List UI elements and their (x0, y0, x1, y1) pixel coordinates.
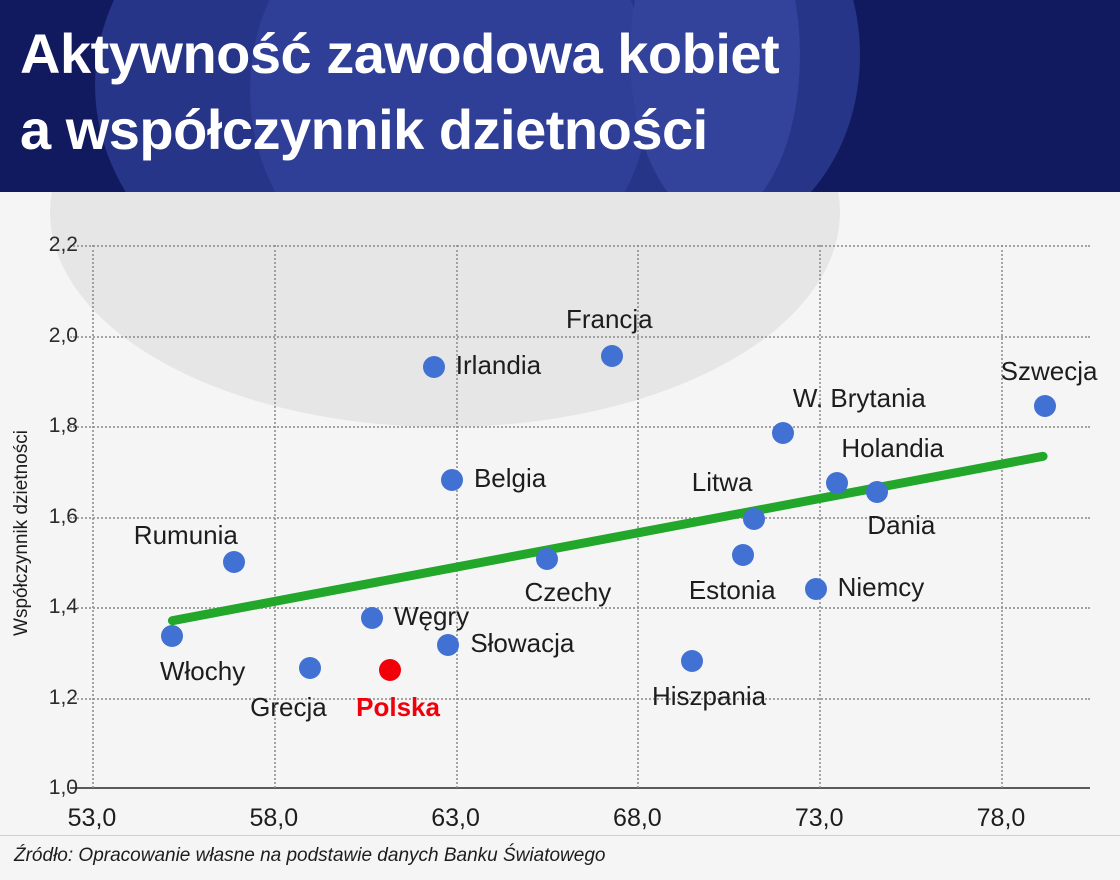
y-axis-tick-label: 1,0 (0, 776, 78, 800)
header-banner: Aktywność zawodowa kobiet a współczynnik… (0, 0, 1120, 192)
data-point-belgia[interactable] (441, 469, 463, 491)
x-axis-tick-label: 63,0 (401, 804, 511, 833)
data-point-label: Francja (566, 304, 653, 335)
gridline-horizontal (70, 698, 1090, 700)
data-point-label: Holandia (841, 433, 944, 464)
data-point-label: Niemcy (838, 572, 925, 603)
data-point-label: Szwecja (1001, 356, 1098, 387)
infographic-root: Aktywność zawodowa kobiet a współczynnik… (0, 0, 1120, 880)
gridline-horizontal (70, 426, 1090, 428)
data-point-label: Węgry (394, 601, 469, 632)
data-point-polska[interactable] (379, 659, 401, 681)
data-point-label: Polska (356, 692, 440, 723)
data-point-label: Słowacja (470, 628, 574, 659)
x-axis-tick-label: 73,0 (764, 804, 874, 833)
data-point-grecja[interactable] (299, 657, 321, 679)
data-point-label: Rumunia (134, 520, 238, 551)
x-axis-tick-label: 53,0 (37, 804, 147, 833)
x-axis-tick-label: 68,0 (582, 804, 692, 833)
gridline-vertical (92, 245, 94, 788)
data-point-w-brytania[interactable] (772, 422, 794, 444)
data-point-litwa[interactable] (743, 508, 765, 530)
footer-divider (0, 835, 1120, 836)
chart-area: 1,01,21,41,61,82,02,253,058,063,068,073,… (0, 192, 1120, 880)
page-title: Aktywność zawodowa kobiet a współczynnik… (20, 16, 1080, 168)
data-point-label: Grecja (250, 692, 327, 723)
data-point-w-ochy[interactable] (161, 625, 183, 647)
data-point-label: Dania (867, 510, 935, 541)
data-point-label: Litwa (692, 467, 753, 498)
gridline-horizontal (70, 517, 1090, 519)
gridline-vertical (456, 245, 458, 788)
data-point-label: Belgia (474, 463, 546, 494)
y-axis-title: Współczynnik dzietności (11, 323, 33, 743)
data-point-czechy[interactable] (536, 548, 558, 570)
data-point-holandia[interactable] (826, 472, 848, 494)
x-axis-tick-label: 78,0 (946, 804, 1056, 833)
x-axis-line (70, 787, 1090, 789)
source-note: Źródło: Opracowanie własne na podstawie … (14, 845, 605, 867)
data-point-label: W. Brytania (793, 383, 926, 414)
data-point-hiszpania[interactable] (681, 650, 703, 672)
data-point-label: Czechy (525, 577, 612, 608)
gridline-vertical (819, 245, 821, 788)
chart-axes: 1,01,21,41,61,82,02,253,058,063,068,073,… (0, 192, 1120, 880)
data-point-label: Estonia (689, 575, 776, 606)
data-point-label: Włochy (160, 656, 245, 687)
data-point-w-gry[interactable] (361, 607, 383, 629)
data-point-niemcy[interactable] (805, 578, 827, 600)
gridline-horizontal (70, 245, 1090, 247)
data-point-szwecja[interactable] (1034, 395, 1056, 417)
gridline-horizontal (70, 336, 1090, 338)
y-axis-tick-label: 2,2 (0, 233, 78, 257)
x-axis-tick-label: 58,0 (219, 804, 329, 833)
data-point-irlandia[interactable] (423, 356, 445, 378)
data-point-label: Irlandia (456, 350, 541, 381)
data-point-rumunia[interactable] (223, 551, 245, 573)
data-point-estonia[interactable] (732, 544, 754, 566)
data-point-francja[interactable] (601, 345, 623, 367)
data-point-dania[interactable] (866, 481, 888, 503)
data-point-label: Hiszpania (652, 681, 766, 712)
gridline-vertical (1001, 245, 1003, 788)
